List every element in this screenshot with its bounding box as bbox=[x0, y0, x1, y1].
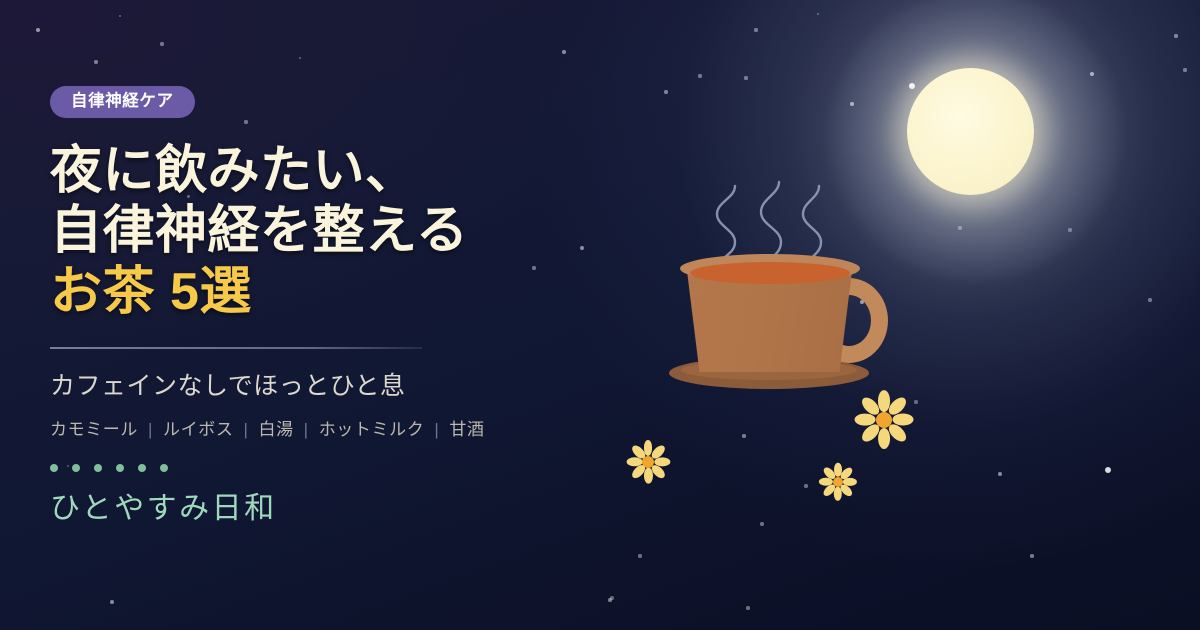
star bbox=[817, 13, 820, 16]
accent-dot bbox=[160, 464, 168, 472]
title-line-1: 夜に飲みたい、 bbox=[50, 141, 610, 202]
tag-item: 白湯 bbox=[258, 420, 293, 439]
category-badge: 自律神経ケア bbox=[50, 86, 195, 118]
full-moon-icon bbox=[907, 68, 1034, 195]
text-column: 自律神経ケア 夜に飲みたい、 自律神経を整える お茶 5選 カフェインなしでほっ… bbox=[50, 86, 610, 527]
star bbox=[1174, 34, 1178, 38]
subtitle: カフェインなしでほっとひと息 bbox=[50, 366, 610, 402]
brand-name: ひとやすみ日和 bbox=[50, 483, 610, 527]
banner-canvas: 自律神経ケア 夜に飲みたい、 自律神経を整える お茶 5選 カフェインなしでほっ… bbox=[0, 0, 1200, 630]
star bbox=[998, 472, 1002, 476]
accent-dot bbox=[138, 464, 146, 472]
star bbox=[1183, 68, 1186, 71]
title-line-3-accent: お茶 5選 bbox=[50, 262, 610, 323]
flower-petal bbox=[626, 458, 642, 467]
dot-row bbox=[50, 464, 610, 472]
tag-separator: | bbox=[243, 420, 248, 439]
star bbox=[119, 15, 122, 18]
chamomile-flower-medium-icon bbox=[625, 439, 671, 485]
tag-item: カモミール bbox=[50, 420, 138, 439]
tea-surface bbox=[690, 262, 850, 284]
star bbox=[94, 60, 98, 64]
star bbox=[804, 484, 808, 488]
page-title: 夜に飲みたい、 自律神経を整える お茶 5選 bbox=[50, 141, 610, 323]
star bbox=[744, 76, 747, 79]
star bbox=[746, 606, 750, 610]
star bbox=[664, 90, 668, 94]
tag-separator: | bbox=[304, 420, 309, 439]
star bbox=[754, 28, 757, 31]
star bbox=[110, 600, 114, 604]
accent-dot bbox=[94, 464, 102, 472]
tag-item: 甘酒 bbox=[449, 420, 484, 439]
accent-dot bbox=[116, 464, 124, 472]
accent-dot bbox=[50, 464, 58, 472]
star bbox=[760, 522, 764, 526]
tag-separator: | bbox=[434, 420, 439, 439]
star bbox=[1105, 467, 1111, 473]
star bbox=[1148, 298, 1152, 302]
star bbox=[36, 28, 40, 32]
star bbox=[562, 50, 566, 54]
divider bbox=[50, 347, 422, 349]
flower-petal bbox=[878, 428, 890, 449]
chamomile-flower-small-icon bbox=[818, 462, 858, 502]
tag-item: ホットミルク bbox=[319, 420, 425, 439]
star bbox=[610, 596, 613, 599]
star bbox=[299, 57, 302, 60]
title-line-2: 自律神経を整える bbox=[50, 201, 610, 262]
flower-petal bbox=[834, 487, 842, 501]
tag-separator: | bbox=[148, 420, 153, 439]
chamomile-flower-large-icon bbox=[853, 389, 915, 451]
steaming-tea-mug-illustration bbox=[655, 180, 915, 415]
star bbox=[742, 434, 746, 438]
tag-list: カモミール|ルイボス|白湯|ホットミルク|甘酒 bbox=[50, 415, 610, 440]
star bbox=[160, 42, 163, 45]
star bbox=[638, 554, 642, 558]
tag-item: ルイボス bbox=[163, 420, 233, 439]
steam-wisp-3 bbox=[795, 184, 835, 266]
star bbox=[1030, 554, 1034, 558]
accent-dot bbox=[72, 464, 80, 472]
star bbox=[698, 74, 701, 77]
